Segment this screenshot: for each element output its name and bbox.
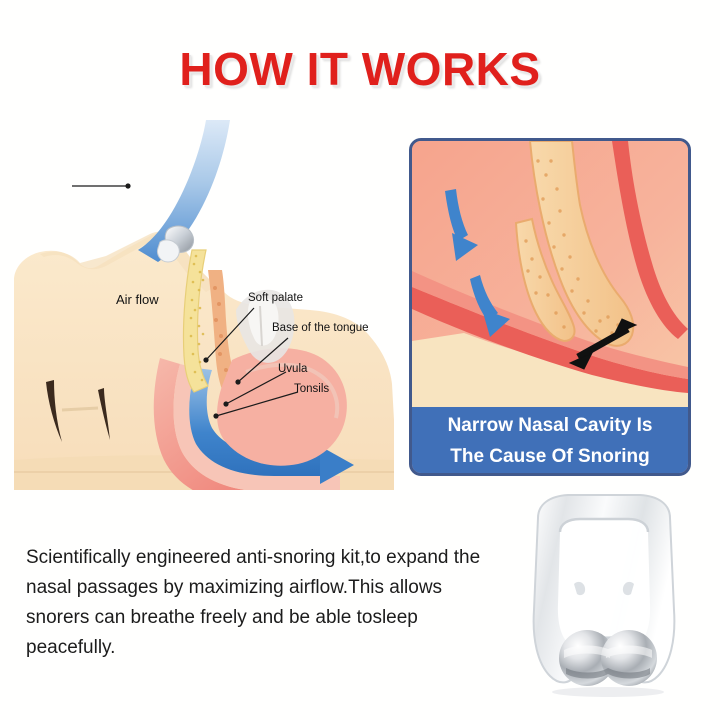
nose-clip-product-image bbox=[498, 492, 710, 697]
label-uvula: Uvula bbox=[278, 363, 307, 375]
label-air-flow: Air flow bbox=[116, 292, 159, 307]
how-it-works-infographic: HOW IT WORKS bbox=[0, 0, 720, 720]
banner-line-2: The Cause Of Snoring bbox=[412, 441, 688, 472]
product-shadow bbox=[552, 687, 664, 697]
narrow-nasal-cavity-panel: Narrow Nasal Cavity Is The Cause Of Snor… bbox=[409, 138, 691, 476]
banner-line-1: Narrow Nasal Cavity Is bbox=[448, 415, 653, 436]
banner-caption: Narrow Nasal Cavity Is The Cause Of Snor… bbox=[412, 407, 688, 473]
nose-bridge-line bbox=[62, 408, 98, 410]
description-paragraph: Scientifically engineered anti-snoring k… bbox=[26, 543, 496, 663]
label-soft-palate: Soft palate bbox=[248, 292, 303, 304]
label-base-of-tongue: Base of the tongue bbox=[272, 322, 369, 334]
frame-opening bbox=[558, 519, 650, 644]
page-title: HOW IT WORKS bbox=[0, 42, 720, 96]
snoring-anatomy-diagram: Air flow bbox=[10, 120, 400, 490]
label-tonsils: Tonsils bbox=[294, 383, 329, 395]
nasal-cavity-illustration bbox=[412, 141, 688, 413]
